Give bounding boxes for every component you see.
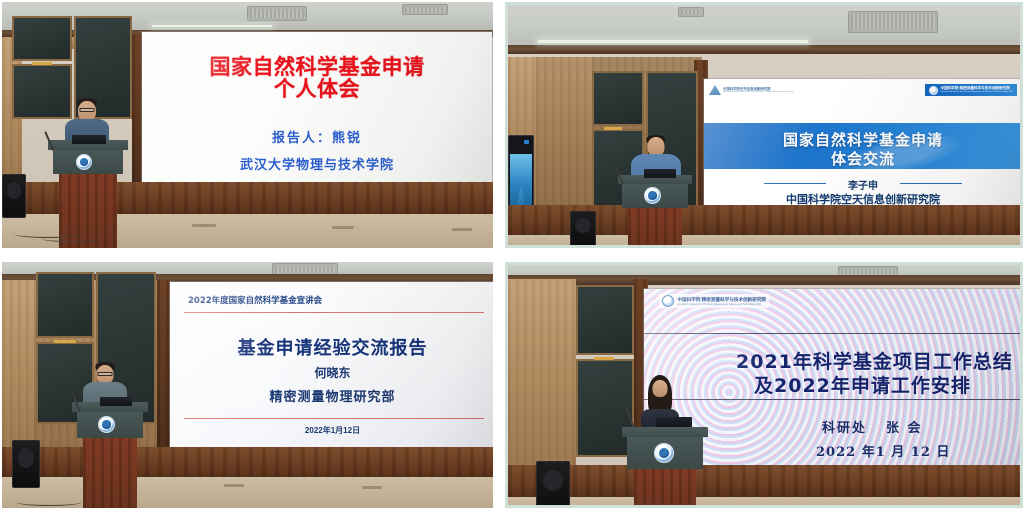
- projection-screen-top-left: 国家自然科学基金申请 个人体会 报告人：熊锐 武汉大学物理与技术学院: [142, 32, 492, 187]
- slide-title: 基金申请经验交流报告: [170, 334, 493, 360]
- slide-rule-bottom: [644, 399, 1020, 400]
- stage-front: [508, 465, 1020, 497]
- slide-title-band: 国家自然科学基金申请 体会交流: [704, 123, 1020, 169]
- speaker-glasses: [80, 108, 95, 112]
- podium-base: [634, 469, 696, 505]
- triangle-logo-icon: [709, 85, 721, 95]
- ceiling-beam: [508, 45, 1020, 54]
- slide-presenter-name: 张 会: [886, 417, 923, 436]
- blackboard-lower: [12, 64, 72, 119]
- laptop-icon: [644, 169, 676, 178]
- wall-wood-panel: [536, 57, 592, 207]
- blackboard-clip: [594, 357, 614, 360]
- podium-emblem-icon: [644, 187, 661, 204]
- blackboard-upper: [36, 272, 94, 338]
- logo-airi-en: Aerospace Information Research Institute…: [723, 91, 794, 94]
- blackboard-upper: [12, 16, 72, 61]
- logo-apm-en: Innovation Academy for Precision Measure…: [941, 91, 1013, 94]
- cas-emblem-icon: [929, 86, 938, 95]
- cas-emblem-icon: [662, 295, 674, 307]
- ceiling-vent: [848, 11, 938, 33]
- photo-bottom-right[interactable]: 中国科学院 精密测量科学与技术创新研究院 Innovation Academy …: [505, 262, 1023, 508]
- slide-affiliation: 武汉大学物理与技术学院: [142, 154, 492, 173]
- slide-title-line1: 国家自然科学基金申请: [704, 129, 1020, 150]
- slide-logo-header: 中国科学院空天信息创新研究院 Aerospace Information Res…: [704, 79, 1020, 99]
- logo-apm-cn: 中国科学院 精密测量科学与技术创新研究院: [677, 297, 766, 303]
- blackboard-clip: [54, 340, 76, 343]
- slide-title-line2: 及2022年申请工作安排: [754, 371, 971, 398]
- slide-rule-bottom: [184, 418, 484, 419]
- podium-emblem-icon: [76, 154, 92, 170]
- blackboard-clip: [32, 62, 52, 65]
- slide-date: 2022年1月12日: [170, 425, 493, 436]
- podium-emblem-icon: [98, 416, 115, 433]
- projection-screen-bottom-left: 2022年度国家自然科学基金宣讲会 基金申请经验交流报告 何晓东 精密测量物理研…: [170, 282, 493, 447]
- ceiling-light: [152, 25, 272, 27]
- slide-department: 精密测量物理研究部: [170, 386, 493, 405]
- kiosk-screen: [510, 154, 531, 212]
- floor-marking: [332, 226, 354, 229]
- loudspeaker-icon: [12, 440, 40, 488]
- podium-top: [622, 427, 708, 437]
- ceiling-beam: [508, 275, 1020, 285]
- photo-bottom-left-scene: 2022年度国家自然科学基金宣讲会 基金申请经验交流报告 何晓东 精密测量物理研…: [2, 262, 493, 508]
- floor-marking: [224, 484, 244, 487]
- floor-cable: [42, 236, 102, 242]
- projection-screen-top-right: 中国科学院空天信息创新研究院 Aerospace Information Res…: [704, 79, 1020, 219]
- laptop-icon: [656, 417, 692, 427]
- laptop-icon: [72, 135, 106, 144]
- logo-airi-text: 中国科学院空天信息创新研究院 Aerospace Information Res…: [723, 87, 794, 94]
- photo-top-left-scene: 国家自然科学基金申请 个人体会 报告人：熊锐 武汉大学物理与技术学院: [2, 2, 493, 248]
- ceiling-vent: [247, 6, 307, 21]
- slide-logo-header: 中国科学院 精密测量科学与技术创新研究院 Innovation Academy …: [659, 294, 769, 308]
- floor-marking: [362, 486, 382, 489]
- ceiling-light: [538, 40, 808, 43]
- photo-top-left[interactable]: 国家自然科学基金申请 个人体会 报告人：熊锐 武汉大学物理与技术学院: [2, 2, 493, 248]
- photo-bottom-right-scene: 中国科学院 精密测量科学与技术创新研究院 Innovation Academy …: [508, 265, 1020, 505]
- laptop-icon: [100, 397, 132, 406]
- podium-base: [628, 208, 681, 245]
- podium-base: [83, 438, 138, 508]
- podium-bottom-left: [72, 402, 148, 508]
- slide-rule-top: [644, 333, 1020, 334]
- photo-collage-page: 国家自然科学基金申请 个人体会 报告人：熊锐 武汉大学物理与技术学院: [0, 0, 1025, 512]
- logo-apm: 中国科学院 精密测量科学与技术创新研究院 Innovation Academy …: [925, 84, 1017, 96]
- logo-apm-en: Innovation Academy for Precision Measure…: [677, 303, 766, 306]
- slide-title-line2: 体会交流: [704, 148, 1020, 169]
- photo-top-right[interactable]: 中国科学院空天信息创新研究院 Aerospace Information Res…: [505, 2, 1023, 248]
- floor-cable: [16, 498, 82, 506]
- wall-wood-column: [157, 280, 171, 455]
- speaker-head: [653, 380, 668, 397]
- slide-presenter: 何晓东: [170, 364, 493, 381]
- logo-airi: 中国科学院空天信息创新研究院 Aerospace Information Res…: [709, 85, 794, 95]
- slide-title-line1: 2021年科学基金项目工作总结: [736, 347, 1013, 374]
- floor-marking: [452, 228, 472, 231]
- photo-top-right-scene: 中国科学院空天信息创新研究院 Aerospace Information Res…: [508, 5, 1020, 245]
- ceiling-vent: [678, 7, 704, 17]
- floor-marking: [192, 224, 216, 227]
- slide-presenter: 李子申: [704, 177, 1020, 192]
- slide-presenter: 报告人：熊锐: [142, 127, 492, 146]
- podium-bottom-right: [622, 427, 708, 505]
- podium-top-right: [618, 175, 692, 245]
- slide-date: 2022 年1 月 12 日: [816, 441, 950, 460]
- slide-title-line2: 个人体会: [142, 79, 492, 100]
- blackboard-upper: [592, 71, 644, 126]
- floor: [508, 497, 1020, 505]
- wall-wood-panel: [508, 279, 576, 469]
- slide-rule-top: [184, 312, 484, 313]
- logo-apm-text: 中国科学院 精密测量科学与技术创新研究院 Innovation Academy …: [677, 297, 766, 306]
- slide-kicker: 2022年度国家自然科学基金宣讲会: [188, 294, 322, 306]
- loudspeaker-icon: [2, 174, 26, 218]
- slide-title-line1: 国家自然科学基金申请: [142, 57, 492, 78]
- kiosk-led: [524, 140, 529, 144]
- slide-presenter-dept: 科研处: [822, 417, 867, 436]
- logo-apm-text: 中国科学院 精密测量科学与技术创新研究院 Innovation Academy …: [941, 86, 1013, 93]
- blackboard-clip: [604, 127, 622, 130]
- wall-wood-panel: [2, 280, 34, 455]
- blackboard-upper: [576, 285, 634, 355]
- loudspeaker-icon: [536, 461, 570, 505]
- photo-bottom-left[interactable]: 2022年度国家自然科学基金宣讲会 基金申请经验交流报告 何晓东 精密测量物理研…: [2, 262, 493, 508]
- podium-emblem-icon: [654, 443, 674, 463]
- ceiling-vent: [402, 4, 448, 15]
- loudspeaker-icon: [570, 211, 596, 245]
- speaker-glasses: [98, 372, 113, 376]
